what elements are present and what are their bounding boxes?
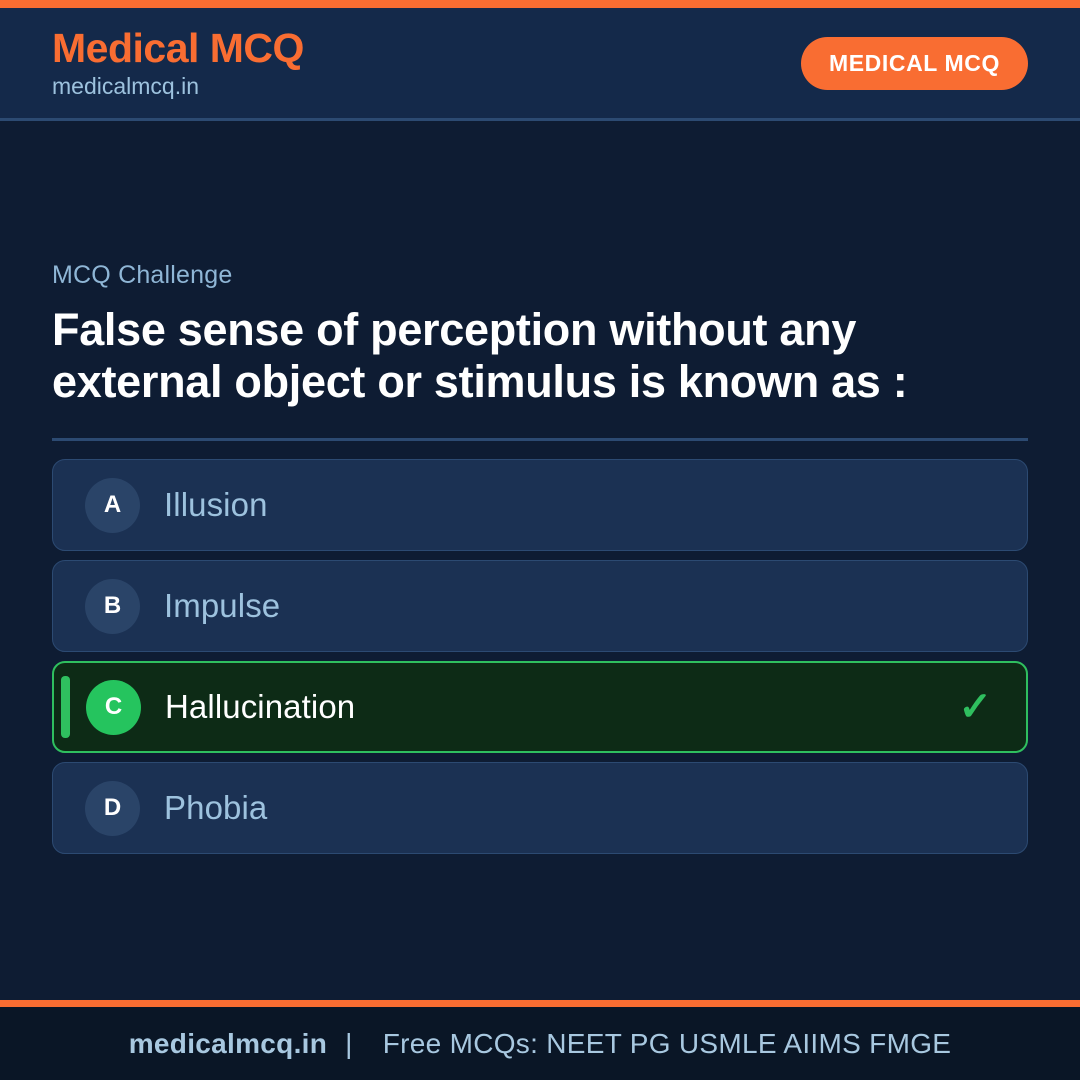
footer-accent-bar (0, 1000, 1080, 1007)
top-accent-bar (0, 0, 1080, 8)
option-label-d: Phobia (164, 789, 267, 827)
footer-site-link[interactable]: medicalmcq.in (129, 1028, 327, 1060)
footer-wrap: medicalmcq.in | Free MCQs: NEET PG USMLE… (0, 1000, 1080, 1080)
question-text: False sense of perception without any ex… (52, 304, 1028, 408)
options-list: A Illusion B Impulse C Hallucination ✓ D… (52, 459, 1028, 854)
option-label-a: Illusion (164, 486, 268, 524)
option-row-d[interactable]: D Phobia (52, 762, 1028, 854)
option-label-b: Impulse (164, 587, 280, 625)
option-row-a[interactable]: A Illusion (52, 459, 1028, 551)
option-letter-badge-d: D (85, 781, 140, 836)
option-label-c: Hallucination (165, 688, 355, 726)
question-kicker: MCQ Challenge (52, 261, 1028, 290)
option-letter-badge-b: B (85, 579, 140, 634)
page-footer: medicalmcq.in | Free MCQs: NEET PG USMLE… (0, 1007, 1080, 1080)
page-header: Medical MCQ medicalmcq.in MEDICAL MCQ (0, 8, 1080, 121)
footer-exams-label: Free MCQs: NEET PG USMLE AIIMS FMGE (371, 1028, 952, 1060)
main-content: MCQ Challenge False sense of perception … (0, 121, 1080, 1000)
brand-block: Medical MCQ medicalmcq.in (52, 26, 304, 101)
header-badge-pill: MEDICAL MCQ (801, 37, 1028, 90)
brand-title: Medical MCQ (52, 26, 304, 70)
option-row-b[interactable]: B Impulse (52, 560, 1028, 652)
correct-accent-bar (61, 676, 70, 738)
option-letter-badge-a: A (85, 478, 140, 533)
footer-separator: | (327, 1028, 371, 1060)
check-icon: ✓ (958, 687, 1000, 727)
option-letter-badge-c: C (86, 680, 141, 735)
brand-subtitle: medicalmcq.in (52, 73, 304, 101)
question-divider (52, 438, 1028, 441)
option-row-c[interactable]: C Hallucination ✓ (52, 661, 1028, 753)
